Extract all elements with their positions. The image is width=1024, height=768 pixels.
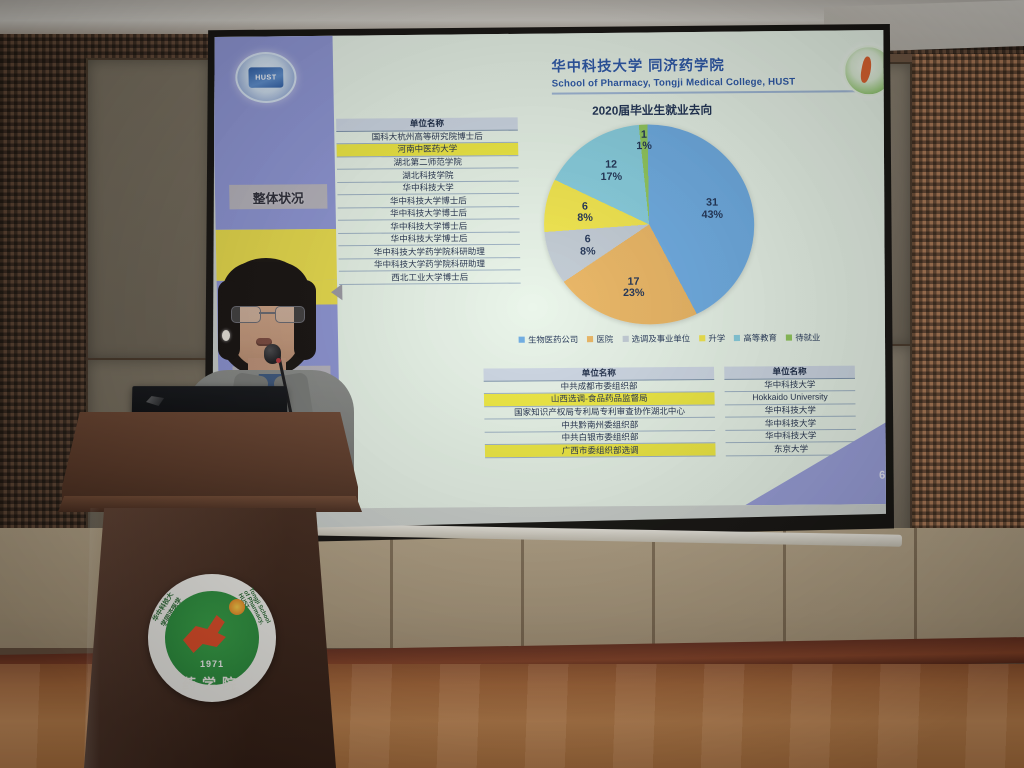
slide-header-rule (552, 90, 876, 94)
legend-swatch-icon (786, 334, 792, 340)
pie-chart: 3143%1723%68%68%1217%11% (542, 124, 760, 328)
legend-swatch-icon (519, 337, 525, 343)
emblem-sun-icon (229, 599, 245, 615)
pie-slice-label: 1217% (595, 160, 628, 184)
table-cell-unit-name: Hokkaido University (725, 391, 856, 405)
table-row: 西北工业大学博士后 (339, 270, 521, 284)
mosaic-tile-band-right (912, 18, 1024, 580)
emblem-figure-icon (183, 609, 241, 659)
legend-item: 医院 (587, 333, 613, 345)
slide-header-en: School of Pharmacy, Tongji Medical Colle… (552, 76, 879, 90)
emblem-year: 1971 (165, 659, 259, 669)
legend-label: 选调及事业单位 (631, 332, 690, 345)
table-cell-unit-name: 广西市委组织部选调 (485, 443, 716, 458)
table-bottom-center-units: 单位名称中共成都市委组织部山西选调-食品药品监督局国家知识产权局专利局专利审查协… (483, 367, 715, 458)
glasses-lens-right (275, 306, 305, 323)
pie-slice-label: 3143% (696, 197, 729, 221)
table-header-cell: 单位名称 (724, 366, 855, 379)
table-row: 广西市委组织部选调 (485, 443, 716, 458)
sidebar-item-label: 整体状况 (253, 187, 304, 207)
pie-slice-label: 11% (627, 129, 660, 153)
hust-logo-text: HUST (248, 67, 283, 88)
table-row: 华中科技大学 (725, 403, 856, 417)
legend-item: 高等教育 (734, 332, 777, 345)
legend-swatch-icon (734, 335, 740, 341)
table-cell-unit-name: 华中科技大学 (725, 403, 856, 417)
legend-swatch-icon (699, 335, 705, 341)
pie-slice-label: 68% (568, 201, 601, 225)
slide-page-number: 6 (879, 469, 885, 481)
legend-swatch-icon (587, 336, 593, 342)
glasses-bridge (259, 312, 275, 314)
photo-scene: HUST 整体状况 就业去向 培养成效 华中科技大学 同济药学院 School … (0, 0, 1024, 768)
table-row: 华中科技大学 (725, 429, 856, 443)
legend-swatch-icon (622, 336, 628, 342)
legend-label: 待就业 (795, 331, 820, 343)
pie-slice-label: 1723% (617, 276, 650, 300)
table-cell-unit-name: 华中科技大学 (725, 416, 856, 430)
chart-legend: 生物医药公司医院选调及事业单位升学高等教育待就业 (501, 331, 838, 346)
legend-item: 升学 (699, 332, 725, 344)
table-row: 华中科技大学 (725, 416, 856, 430)
legend-label: 医院 (596, 333, 613, 345)
table-cell-unit-name: 华中科技大学 (724, 378, 855, 392)
emblem-inner-disc: 1971 (165, 591, 259, 685)
legend-label: 生物医药公司 (528, 333, 578, 346)
table-row: Hokkaido University (725, 391, 856, 405)
emblem-name-cn: 药学院 (148, 674, 276, 694)
table-left-units: 单位名称国科大杭州高等研究院博士后河南中医药大学湖北第二师范学院湖北科技学院华中… (336, 117, 521, 285)
microphone-indicator-light (276, 358, 281, 363)
table-cell-unit-name: 华中科技大学 (725, 429, 856, 443)
legend-item: 待就业 (786, 331, 820, 344)
speaker-glasses-icon (230, 306, 304, 322)
table-bottom-right-units: 单位名称华中科技大学Hokkaido University华中科技大学华中科技大… (724, 366, 856, 456)
legend-item: 选调及事业单位 (622, 332, 690, 345)
glasses-lens-left (231, 306, 261, 323)
pie-slice-label: 68% (571, 234, 604, 258)
table-cell-unit-name: 西北工业大学博士后 (339, 270, 521, 284)
chart-title: 2020届毕业生就业去向 (519, 101, 785, 119)
legend-label: 升学 (708, 332, 725, 344)
slide-header-cn: 华中科技大学 同济药学院 (551, 53, 878, 76)
podium-emblem: 华中科技大学同济医学院 Tongji School of Pharmacy, H… (148, 574, 276, 702)
legend-label: 高等教育 (743, 332, 777, 345)
hust-university-logo-icon: HUST (235, 52, 297, 103)
laptop-brand-logo-icon (146, 396, 164, 406)
speaker-earring (222, 330, 230, 341)
legend-item: 生物医药公司 (519, 333, 579, 346)
slide-header: 华中科技大学 同济药学院 School of Pharmacy, Tongji … (551, 53, 878, 94)
table-row: 华中科技大学 (724, 378, 855, 392)
sidebar-item-overview[interactable]: 整体状况 (229, 184, 327, 209)
podium-top (62, 412, 358, 508)
